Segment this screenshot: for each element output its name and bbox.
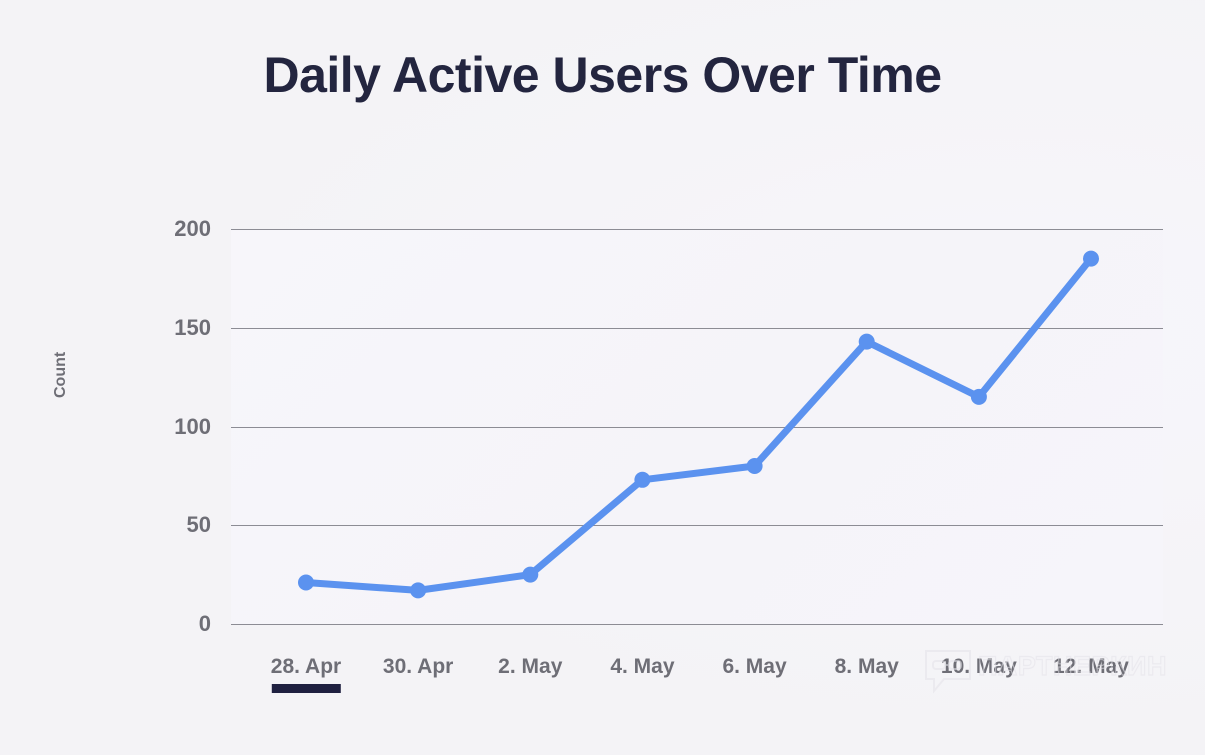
x-axis-tick-label: 6. May bbox=[722, 655, 786, 679]
x-axis-tick-underline bbox=[271, 684, 340, 693]
x-axis-tick-label: 4. May bbox=[610, 655, 674, 679]
x-axis-tick[interactable]: 8. May bbox=[835, 655, 899, 679]
chart-page: Daily Active Users Over Time Count 05010… bbox=[0, 0, 1205, 755]
y-axis-title: Count bbox=[52, 352, 70, 398]
x-axis-tick[interactable]: 4. May bbox=[610, 655, 674, 679]
gridline bbox=[231, 427, 1163, 428]
gridline bbox=[231, 624, 1163, 625]
y-axis-tick-labels: 050100150200 bbox=[123, 229, 211, 624]
y-axis-tick-label: 100 bbox=[131, 414, 211, 440]
x-axis-tick-label: 2. May bbox=[498, 655, 562, 679]
plot-area bbox=[231, 229, 1163, 624]
y-axis-tick-label: 150 bbox=[131, 315, 211, 341]
x-axis-tick[interactable]: 10. May bbox=[941, 655, 1017, 679]
y-axis-tick-label: 50 bbox=[131, 512, 211, 538]
y-axis-tick-label: 200 bbox=[131, 216, 211, 242]
x-axis-tick[interactable]: 2. May bbox=[498, 655, 562, 679]
page-title: Daily Active Users Over Time bbox=[0, 46, 1205, 104]
x-axis-tick-label: 28. Apr bbox=[271, 655, 341, 679]
x-axis-tick-label: 12. May bbox=[1053, 655, 1129, 679]
x-axis-tick[interactable]: 6. May bbox=[722, 655, 786, 679]
gridline bbox=[231, 328, 1163, 329]
x-axis-tick-labels: 28. Apr30. Apr2. May4. May6. May8. May10… bbox=[231, 655, 1163, 705]
x-axis-tick-label: 30. Apr bbox=[383, 655, 453, 679]
y-axis-tick-label: 0 bbox=[131, 611, 211, 637]
x-axis-tick[interactable]: 30. Apr bbox=[383, 655, 453, 679]
x-axis-tick-label: 8. May bbox=[835, 655, 899, 679]
x-axis-tick[interactable]: 28. Apr bbox=[271, 655, 341, 693]
gridline bbox=[231, 229, 1163, 230]
gridline bbox=[231, 525, 1163, 526]
x-axis-tick[interactable]: 12. May bbox=[1053, 655, 1129, 679]
x-axis-tick-label: 10. May bbox=[941, 655, 1017, 679]
